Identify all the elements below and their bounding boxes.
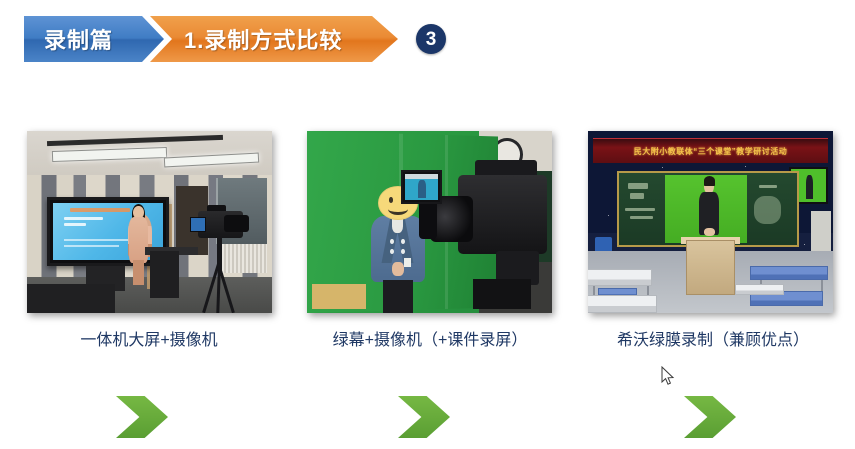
chalk-drawing (625, 208, 655, 211)
camera-flip-monitor (401, 170, 442, 204)
chalk-writing (630, 193, 644, 199)
wall-sparkle (804, 244, 805, 245)
tripod-leg (216, 264, 221, 313)
slide-number-badge: 3 (416, 24, 446, 54)
scene-seewo-classroom: 民大附小教联体“三个课堂”教学研讨活动 (588, 131, 833, 313)
slide-subtitle-bar (64, 217, 104, 220)
photo-card-classroom[interactable]: 民大附小教联体“三个课堂”教学研讨活动 (588, 131, 833, 313)
caption-classroom: 希沃绿膜录制（兼顾优点） (578, 330, 848, 352)
photo-card-studio[interactable] (27, 131, 272, 313)
caption-greenscreen: 绿幕+摄像机（+课件录屏） (295, 330, 565, 352)
scene-studio-allinone (27, 131, 272, 313)
camera-lens-hood (419, 199, 437, 239)
student-desk (735, 284, 784, 295)
monitor-screen (405, 174, 438, 200)
slide-header-banner: 录制篇 1.录制方式比较 3 (24, 14, 446, 64)
smiley-eye (389, 197, 393, 203)
blazer-button (390, 239, 394, 244)
camera-base (473, 279, 532, 310)
photo-card-greenscreen[interactable] (307, 131, 552, 313)
wall-cabinet (811, 211, 831, 251)
header-section-chip: 录制篇 (24, 16, 164, 62)
student-desk (588, 295, 657, 313)
header-section-label: 录制篇 (44, 23, 113, 55)
banner-text: 民大附小教联体“三个课堂”教学研讨活动 (634, 146, 788, 157)
teacher-hair (704, 176, 715, 186)
presenter-legs (133, 260, 144, 285)
arrow-right-icon (684, 396, 736, 438)
scene-green-screen (307, 131, 552, 313)
smiley-mouth (388, 203, 408, 215)
camera-lens (224, 215, 248, 232)
tv-preview-figure (806, 175, 814, 199)
camera-lcd-screen (190, 217, 206, 232)
slide-subtitle-bar (64, 223, 86, 226)
presenter (371, 186, 425, 313)
camera-on-tripod (189, 211, 253, 313)
red-banner: 民大附小教联体“三个课堂”教学研讨活动 (593, 138, 828, 163)
student-desk-blue (750, 266, 828, 281)
professional-video-camera (430, 156, 553, 309)
presenter-hands (392, 262, 404, 276)
yellow-box (312, 284, 366, 309)
page-title: 1.录制方式比较 (184, 23, 342, 55)
slide-body-line (64, 245, 119, 247)
monitor-preview-figure (418, 180, 426, 198)
chalk-drawing (754, 196, 781, 224)
presenter-pants (383, 280, 413, 313)
wall-sparkle (608, 215, 609, 216)
mouse-cursor-icon (661, 366, 675, 386)
teacher-hands (704, 228, 715, 236)
arrow-right-icon (116, 396, 168, 438)
front-table (27, 284, 115, 313)
slide-title-bar (70, 208, 130, 212)
equipment-cart (150, 251, 179, 298)
wall-sparkle (662, 167, 663, 168)
caption-studio: 一体机大屏+摄像机 (14, 330, 284, 352)
chalk-writing (759, 185, 777, 188)
header-title-chip: 1.录制方式比较 (150, 16, 398, 62)
wall-sparkle (745, 166, 746, 167)
student-desk (588, 269, 652, 285)
slide-body-line (64, 239, 128, 241)
presenter-body (129, 217, 148, 262)
wooden-podium (686, 240, 735, 295)
chalk-drawing (630, 216, 653, 218)
arrow-right-icon (398, 396, 450, 438)
chalk-writing (628, 183, 648, 189)
presenter (127, 206, 149, 284)
shirt-cuff (404, 258, 411, 267)
